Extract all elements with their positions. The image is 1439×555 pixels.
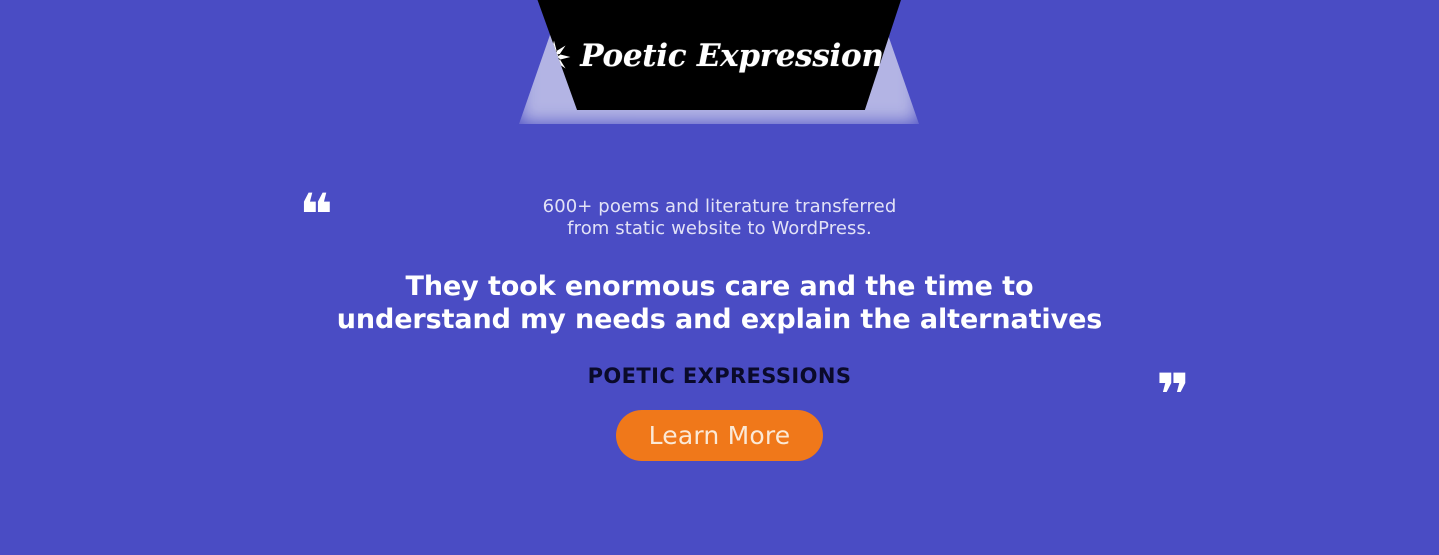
testimonial-quote-line-1: They took enormous care and the time to [0, 270, 1439, 303]
header-banner-area: Poetic Expressions [0, 0, 1439, 140]
brand-logo[interactable]: Poetic Expressions [537, 38, 900, 74]
header-banner: Poetic Expressions [524, 0, 914, 110]
learn-more-button[interactable]: Learn More [616, 410, 823, 461]
testimonial-content: 600+ poems and literature transferred fr… [0, 196, 1439, 461]
brand-name: Poetic Expressions [580, 41, 900, 72]
cta-row: Learn More [0, 389, 1439, 461]
project-summary: 600+ poems and literature transferred fr… [0, 196, 1439, 240]
testimonial-quote: They took enormous care and the time to … [0, 240, 1439, 336]
testimonial-quote-line-2: understand my needs and explain the alte… [0, 303, 1439, 336]
testimonial-attribution: POETIC EXPRESSIONS [0, 336, 1439, 389]
project-summary-line-1: 600+ poems and literature transferred [0, 196, 1439, 218]
starburst-flower-icon [537, 40, 571, 74]
testimonial-slide: Poetic Expressions ❝ ❞ 600+ poems and li… [0, 0, 1439, 555]
project-summary-line-2: from static website to WordPress. [0, 218, 1439, 240]
